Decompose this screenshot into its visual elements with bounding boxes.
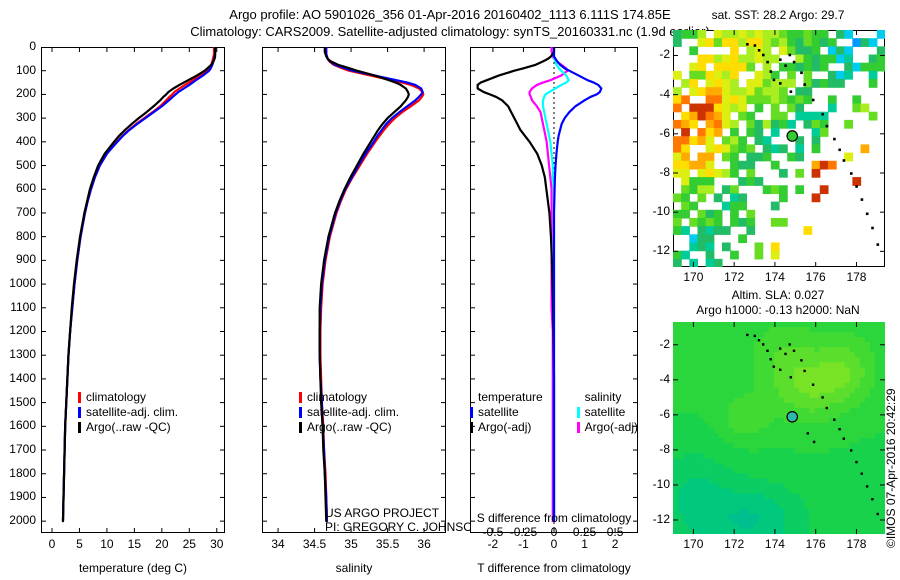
- salinity-tick-label: 36: [406, 537, 442, 551]
- sla-longitude-tick-label: 172: [718, 537, 750, 551]
- depth-tick-label: 1700: [0, 442, 36, 456]
- depth-tick-label: 400: [0, 134, 36, 148]
- legend-label: satellite: [478, 405, 519, 420]
- legend-label: satellite-adj. clim.: [307, 405, 399, 420]
- depth-tick-label: 300: [0, 110, 36, 124]
- salinity-tick-label: 34.5: [297, 537, 333, 551]
- temperature-difference-tick-label: 2: [601, 537, 629, 551]
- project-name: US ARGO PROJECT: [325, 506, 481, 520]
- difference-legend: temperaturesatelliteArgo(-adj)salinitysa…: [470, 390, 638, 435]
- temperature-tick-label: 10: [93, 537, 121, 551]
- sst-latitude-tick-label: -4: [640, 87, 670, 101]
- depth-tick-label: 700: [0, 205, 36, 219]
- sla-longitude-tick-label: 176: [800, 537, 832, 551]
- depth-tick-label: 800: [0, 229, 36, 243]
- legend-label: Argo(..raw -QC): [307, 420, 392, 435]
- legend-item: satellite-adj. clim.: [299, 405, 399, 420]
- temperature-tick-label: 30: [203, 537, 231, 551]
- temperature-tick-label: 15: [120, 537, 148, 551]
- salinity-axis-label: salinity: [262, 561, 446, 575]
- sla-latitude-tick-label: -12: [640, 512, 670, 526]
- sla-latitude-tick-label: -4: [640, 372, 670, 386]
- legend-item: climatology: [299, 390, 399, 405]
- legend-column: temperaturesatelliteArgo(-adj): [470, 390, 543, 435]
- temperature-tick-label: 5: [65, 537, 93, 551]
- salinity-legend: climatologysatellite-adj. clim.Argo(..ra…: [299, 390, 399, 435]
- legend-label: satellite: [585, 405, 626, 420]
- depth-tick-label: 1300: [0, 347, 36, 361]
- sst-longitude-tick-label: 174: [759, 270, 791, 284]
- copyright-text: ©IMOS 07-Apr-2016 20:42:29: [884, 388, 898, 548]
- sst-latitude-tick-label: -10: [640, 204, 670, 218]
- legend-label: satellite-adj. clim.: [86, 405, 178, 420]
- depth-tick-label: 1000: [0, 276, 36, 290]
- sla-longitude-tick-label: 170: [677, 537, 709, 551]
- salinity-tick-label: 35.5: [370, 537, 406, 551]
- temperature-difference-tick-label: -1: [509, 537, 537, 551]
- legend-swatch: [299, 407, 302, 418]
- legend-swatch: [470, 407, 473, 418]
- sst-longitude-tick-label: 176: [800, 270, 832, 284]
- legend-item: Argo(..raw -QC): [78, 420, 178, 435]
- legend-label: Argo(-adj): [585, 420, 638, 435]
- legend-swatch: [299, 422, 302, 433]
- sla-latitude-tick-label: -6: [640, 407, 670, 421]
- sst-latitude-tick-label: -12: [640, 243, 670, 257]
- legend-swatch: [78, 407, 81, 418]
- difference-profile-plot: [470, 47, 638, 533]
- depth-tick-label: 900: [0, 252, 36, 266]
- sst-map-plot: [673, 30, 885, 267]
- depth-tick-label: 1600: [0, 418, 36, 432]
- depth-tick-label: 1500: [0, 395, 36, 409]
- sla-map-title-line1: Altim. SLA: 0.027: [668, 288, 888, 302]
- sla-latitude-tick-label: -10: [640, 477, 670, 491]
- legend-column: salinitysatelliteArgo(-adj): [577, 390, 638, 435]
- legend-item: Argo(-adj): [470, 420, 543, 435]
- sst-map-title: sat. SST: 28.2 Argo: 29.7: [668, 8, 888, 22]
- sst-longitude-tick-label: 172: [718, 270, 750, 284]
- depth-tick-label: 1900: [0, 489, 36, 503]
- temperature-difference-tick-label: 1: [571, 537, 599, 551]
- legend-label: Argo(..raw -QC): [86, 420, 171, 435]
- sla-map-title-line2: Argo h1000: -0.13 h2000: NaN: [660, 303, 896, 317]
- project-pi: PI: GREGORY C. JOHNSON: [325, 520, 481, 534]
- temperature-axis-label: temperature (deg C): [41, 561, 225, 575]
- sla-latitude-tick-label: -2: [640, 337, 670, 351]
- depth-tick-label: 1100: [0, 300, 36, 314]
- salinity-profile-plot: [262, 47, 446, 533]
- salinity-tick-label: 35: [333, 537, 369, 551]
- temperature-tick-label: 20: [148, 537, 176, 551]
- legend-column-header: temperature: [478, 390, 543, 405]
- legend-item: satellite-adj. clim.: [78, 405, 178, 420]
- legend-swatch: [577, 407, 580, 418]
- depth-tick-label: 0: [0, 39, 36, 53]
- temperature-difference-tick-label: -2: [479, 537, 507, 551]
- salinity-difference-axis-label: S difference from climatology: [462, 511, 646, 525]
- project-credit: US ARGO PROJECT PI: GREGORY C. JOHNSON: [325, 506, 481, 534]
- sst-latitude-tick-label: -8: [640, 165, 670, 179]
- legend-label: Argo(-adj): [478, 420, 531, 435]
- sst-longitude-tick-label: 178: [840, 270, 872, 284]
- sst-longitude-tick-label: 170: [677, 270, 709, 284]
- temperature-legend: climatologysatellite-adj. clim.Argo(..ra…: [78, 390, 178, 435]
- depth-tick-label: 2000: [0, 513, 36, 527]
- sla-longitude-tick-label: 174: [759, 537, 791, 551]
- depth-tick-label: 1400: [0, 371, 36, 385]
- legend-item: satellite: [470, 405, 543, 420]
- legend-item: Argo(-adj): [577, 420, 638, 435]
- temperature-tick-label: 25: [175, 537, 203, 551]
- temperature-profile-plot: [41, 47, 225, 533]
- temperature-tick-label: 0: [38, 537, 66, 551]
- legend-swatch: [78, 392, 81, 403]
- legend-swatch: [470, 422, 473, 433]
- depth-tick-label: 500: [0, 158, 36, 172]
- depth-tick-label: 1200: [0, 323, 36, 337]
- legend-swatch: [299, 392, 302, 403]
- legend-label: climatology: [86, 390, 146, 405]
- depth-tick-label: 600: [0, 181, 36, 195]
- sla-map-plot: [673, 322, 885, 534]
- sla-latitude-tick-label: -8: [640, 442, 670, 456]
- sst-latitude-tick-label: -6: [640, 126, 670, 140]
- legend-swatch: [78, 422, 81, 433]
- sst-latitude-tick-label: -2: [640, 47, 670, 61]
- legend-swatch: [577, 422, 580, 433]
- temperature-difference-tick-label: 0: [540, 537, 568, 551]
- legend-label: climatology: [307, 390, 367, 405]
- legend-item: satellite: [577, 405, 638, 420]
- depth-tick-label: 200: [0, 86, 36, 100]
- salinity-tick-label: 34: [260, 537, 296, 551]
- legend-item: Argo(..raw -QC): [299, 420, 399, 435]
- sla-longitude-tick-label: 178: [840, 537, 872, 551]
- temperature-difference-axis-label: T difference from climatology: [462, 561, 646, 575]
- depth-tick-label: 1800: [0, 466, 36, 480]
- depth-tick-label: 100: [0, 63, 36, 77]
- legend-column-header: salinity: [585, 390, 638, 405]
- legend-item: climatology: [78, 390, 178, 405]
